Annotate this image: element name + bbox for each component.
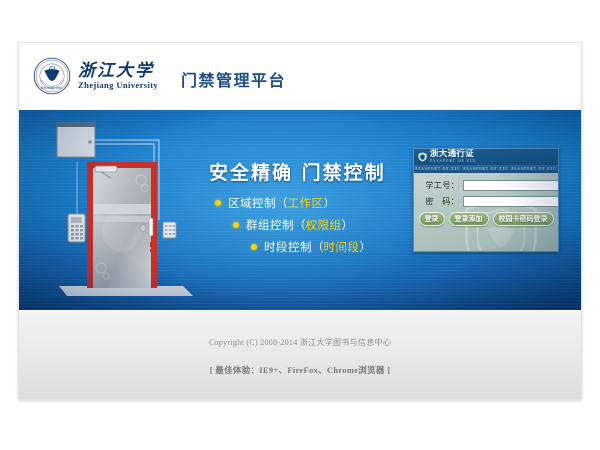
bullet-dot-icon — [233, 222, 239, 228]
passport-repeat-strip: PASSPORT OF ZJU PASSPORT OF ZJU PASSPORT… — [414, 165, 558, 173]
login-button-row: 登录 登录添加 校园卡密码登录 — [421, 212, 551, 226]
passport-title-stack: 浙大通行证 PASSPORT OF ZJU — [430, 150, 476, 164]
paren-close: ） — [324, 195, 336, 211]
feature-sublabel-group: 权限组 — [306, 217, 342, 233]
feature-label-group: 群组控制 — [246, 217, 294, 233]
brand-text: 浙江大学 Zhejiang University — [78, 61, 158, 91]
browser-compatibility-note: [ 最佳体验：IE9+、FireFox、Chrome浏览器 ] — [210, 364, 391, 376]
student-staff-id-field[interactable] — [463, 180, 559, 191]
feature-label-area: 区域控制 — [228, 195, 276, 211]
passport-title-cn: 浙大通行证 — [430, 150, 476, 159]
password-label: 密 码： — [421, 196, 459, 207]
paren-close: ） — [360, 239, 372, 255]
brand-name-cn: 浙江大学 — [78, 61, 158, 80]
passport-shield-icon — [418, 152, 427, 162]
copyright-text: Copyright (C) 2008-2014 浙江大学图书与信息中心 — [209, 337, 391, 348]
login-form: 学工号： 密 码： 登录 登录添加 校园卡密码登录 — [414, 173, 558, 226]
brand-name-en: Zhejiang University — [78, 80, 158, 91]
paren-open: （ — [312, 239, 324, 255]
site-header: ZHEJIANG UNIV 浙江大学 Zhejiang University 门… — [19, 43, 581, 110]
access-control-door-illustration — [41, 118, 201, 308]
paren-open: （ — [276, 195, 288, 211]
paren-open: （ — [294, 217, 306, 233]
feature-sublabel-time: 时间段 — [324, 239, 360, 255]
login-panel: 浙大通行证 PASSPORT OF ZJU PASSPORT OF ZJU PA… — [413, 148, 559, 252]
brand-lockup: ZHEJIANG UNIV 浙江大学 Zhejiang University — [33, 57, 158, 95]
password-field[interactable] — [463, 196, 559, 207]
userid-label: 学工号： — [421, 180, 459, 191]
strip-text-3: PASSPORT OF ZJU — [511, 167, 556, 171]
strip-text-1: PASSPORT OF ZJU — [415, 167, 460, 171]
svg-text:ZHEJIANG UNIV: ZHEJIANG UNIV — [41, 86, 65, 90]
hero-banner: 安全精确 门禁控制 区域控制 （ 工作区 ） 群组控制 （ 权限组 ） 时段控制… — [19, 110, 581, 310]
app-page: ZHEJIANG UNIV 浙江大学 Zhejiang University 门… — [18, 42, 582, 400]
login-button[interactable]: 登录 — [419, 212, 445, 226]
bullet-dot-icon — [251, 244, 257, 250]
form-row-password: 密 码： — [421, 196, 551, 207]
feature-sublabel-area: 工作区 — [288, 195, 324, 211]
form-row-userid: 学工号： — [421, 180, 551, 191]
feature-bullet-area: 区域控制 （ 工作区 ） — [215, 195, 415, 211]
paren-close: ） — [342, 217, 354, 233]
feature-bullet-time: 时段控制 （ 时间段 ） — [215, 239, 415, 255]
banner-headline: 安全精确 门禁控制 — [209, 158, 386, 185]
feature-bullet-group: 群组控制 （ 权限组 ） — [215, 217, 415, 233]
page-title: 门禁管理平台 — [181, 67, 286, 91]
passport-title-en: PASSPORT OF ZJU — [430, 159, 476, 164]
feature-label-time: 时段控制 — [264, 239, 312, 255]
zju-seal-icon: ZHEJIANG UNIV — [33, 57, 71, 95]
campus-card-login-button[interactable]: 校园卡密码登录 — [493, 212, 554, 226]
strip-text-2: PASSPORT OF ZJU — [463, 167, 508, 171]
login-panel-header: 浙大通行证 PASSPORT OF ZJU — [414, 149, 558, 165]
site-footer: Copyright (C) 2008-2014 浙江大学图书与信息中心 [ 最佳… — [19, 310, 581, 400]
feature-bullet-list: 区域控制 （ 工作区 ） 群组控制 （ 权限组 ） 时段控制 （ 时间段 ） — [215, 195, 415, 261]
bullet-dot-icon — [215, 200, 221, 206]
login-add-button[interactable]: 登录添加 — [449, 212, 489, 226]
